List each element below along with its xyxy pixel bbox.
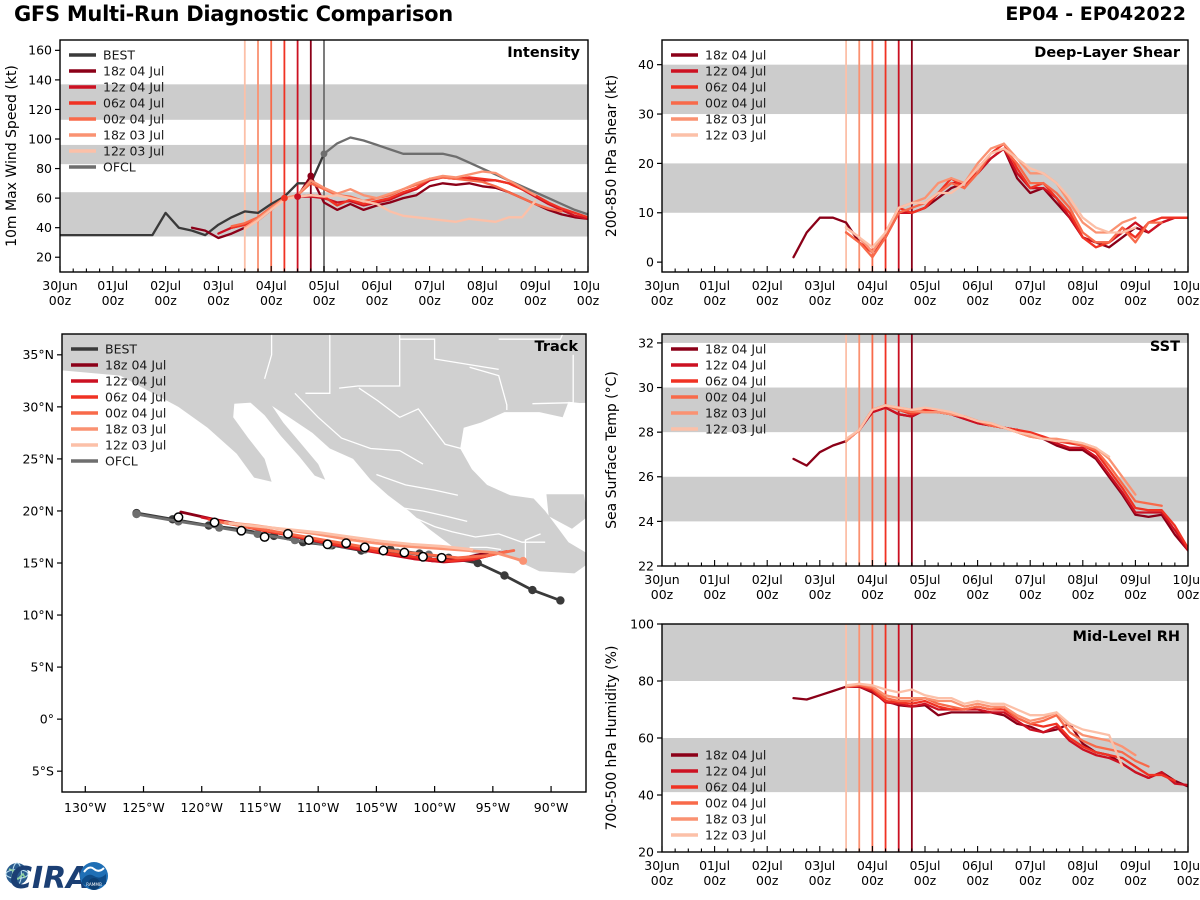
legend-label: 18z 03 Jul bbox=[705, 112, 766, 127]
y-tick-label: 0 bbox=[646, 255, 654, 270]
x-tick-label: 10Jul bbox=[1173, 278, 1200, 293]
x-tick-sublabel: 00z bbox=[651, 587, 674, 602]
panel-title: Intensity bbox=[507, 45, 580, 61]
legend-label: 00z 04 Jul bbox=[705, 390, 766, 405]
x-tick-label: 02Jul bbox=[150, 278, 181, 293]
x-tick-label: 115°W bbox=[239, 800, 281, 815]
y-tick-label: 20 bbox=[638, 156, 654, 171]
y-tick-label: 35°N bbox=[22, 347, 54, 362]
x-tick-label: 05Jul bbox=[910, 278, 941, 293]
x-tick-sublabel: 00z bbox=[154, 293, 177, 308]
open-track-marker bbox=[437, 554, 445, 562]
legend-label: 12z 04 Jul bbox=[705, 764, 766, 779]
open-track-marker bbox=[210, 518, 218, 526]
legend-label: 12z 04 Jul bbox=[103, 80, 164, 95]
x-tick-label: 09Jul bbox=[520, 278, 551, 293]
open-track-marker bbox=[323, 540, 331, 548]
storm-id-title: EP04 - EP042022 bbox=[1005, 3, 1186, 25]
legend-label: 18z 04 Jul bbox=[705, 48, 766, 63]
panel-title: Deep-Layer Shear bbox=[1034, 45, 1181, 61]
x-tick-label: 03Jul bbox=[804, 858, 835, 873]
track-marker bbox=[500, 571, 508, 579]
legend-label: 06z 04 Jul bbox=[103, 96, 164, 111]
page-header: GFS Multi-Run Diagnostic Comparison EP04… bbox=[0, 0, 1200, 26]
x-tick-label: 07Jul bbox=[1015, 858, 1046, 873]
y-tick-label: 20 bbox=[36, 250, 52, 265]
x-tick-label: 10Jul bbox=[1173, 858, 1200, 873]
legend-label: 06z 04 Jul bbox=[705, 780, 766, 795]
x-tick-sublabel: 00z bbox=[366, 293, 389, 308]
rh-panel: 2040608010030Jun00z01Jul00z02Jul00z03Jul… bbox=[600, 614, 1200, 900]
x-tick-sublabel: 00z bbox=[809, 587, 832, 602]
open-track-marker bbox=[305, 536, 313, 544]
legend-label: 06z 04 Jul bbox=[105, 390, 166, 405]
y-tick-label: 28 bbox=[638, 425, 654, 440]
rammb-badge-icon: RAMMB bbox=[80, 862, 108, 890]
x-tick-label: 05Jul bbox=[910, 858, 941, 873]
legend-label: 12z 04 Jul bbox=[705, 358, 766, 373]
legend-label: 00z 04 Jul bbox=[705, 96, 766, 111]
legend-label: 12z 03 Jul bbox=[103, 144, 164, 159]
x-tick-sublabel: 00z bbox=[524, 293, 547, 308]
x-tick-sublabel: 00z bbox=[703, 293, 726, 308]
x-tick-label: 05Jul bbox=[309, 278, 340, 293]
x-tick-sublabel: 00z bbox=[914, 873, 937, 888]
open-track-marker bbox=[260, 533, 268, 541]
x-tick-label: 08Jul bbox=[1067, 278, 1098, 293]
legend-label: 18z 03 Jul bbox=[705, 406, 766, 421]
x-tick-label: 100°W bbox=[413, 800, 455, 815]
x-tick-sublabel: 00z bbox=[809, 873, 832, 888]
x-tick-sublabel: 00z bbox=[651, 293, 674, 308]
x-tick-label: 04Jul bbox=[857, 572, 888, 587]
panel-title: SST bbox=[1150, 339, 1180, 355]
shear-panel: 01020304030Jun00z01Jul00z02Jul00z03Jul00… bbox=[600, 26, 1200, 320]
legend-label: 06z 04 Jul bbox=[705, 374, 766, 389]
open-track-marker bbox=[400, 548, 408, 556]
legend-label: OFCL bbox=[105, 454, 138, 469]
track-marker bbox=[519, 557, 527, 565]
track-marker bbox=[132, 510, 140, 518]
x-tick-sublabel: 00z bbox=[703, 873, 726, 888]
x-tick-label: 10Jul bbox=[573, 278, 601, 293]
x-tick-label: 06Jul bbox=[962, 858, 993, 873]
x-tick-label: 90°W bbox=[534, 800, 569, 815]
y-tick-label: 60 bbox=[638, 730, 654, 745]
legend-label: 12z 04 Jul bbox=[705, 64, 766, 79]
legend-label: 18z 04 Jul bbox=[105, 358, 166, 373]
x-tick-sublabel: 00z bbox=[1177, 293, 1200, 308]
x-tick-sublabel: 00z bbox=[418, 293, 441, 308]
legend-label: 18z 03 Jul bbox=[105, 422, 166, 437]
x-tick-sublabel: 00z bbox=[966, 293, 989, 308]
x-tick-sublabel: 00z bbox=[313, 293, 336, 308]
x-tick-sublabel: 00z bbox=[1072, 587, 1095, 602]
legend-label: 12z 03 Jul bbox=[105, 438, 166, 453]
x-tick-label: 04Jul bbox=[857, 278, 888, 293]
y-tick-label: 30 bbox=[638, 106, 654, 121]
y-tick-label: 25°N bbox=[22, 451, 54, 466]
open-track-marker bbox=[342, 539, 350, 547]
x-tick-sublabel: 00z bbox=[966, 587, 989, 602]
x-tick-label: 07Jul bbox=[1015, 278, 1046, 293]
y-tick-label: 20°N bbox=[22, 503, 54, 518]
x-tick-label: 07Jul bbox=[1015, 572, 1046, 587]
y-tick-label: 10°N bbox=[22, 607, 54, 622]
x-tick-label: 01Jul bbox=[699, 572, 730, 587]
legend-label: 18z 04 Jul bbox=[103, 64, 164, 79]
intensity-panel: 2040608010012014016030Jun00z01Jul00z02Ju… bbox=[0, 26, 600, 320]
x-tick-label: 30Jun bbox=[644, 278, 679, 293]
x-tick-sublabel: 00z bbox=[207, 293, 230, 308]
x-tick-label: 105°W bbox=[355, 800, 397, 815]
x-tick-sublabel: 00z bbox=[914, 587, 937, 602]
x-tick-sublabel: 00z bbox=[861, 873, 884, 888]
x-tick-label: 06Jul bbox=[361, 278, 392, 293]
x-tick-sublabel: 00z bbox=[49, 293, 72, 308]
x-tick-sublabel: 00z bbox=[1019, 873, 1042, 888]
admin-border bbox=[202, 320, 400, 334]
init-marker bbox=[294, 193, 301, 200]
legend-label: 18z 04 Jul bbox=[705, 342, 766, 357]
legend-label: 00z 04 Jul bbox=[105, 406, 166, 421]
init-marker bbox=[281, 195, 288, 202]
legend-label: 12z 03 Jul bbox=[705, 828, 766, 843]
x-tick-label: 06Jul bbox=[962, 572, 993, 587]
x-tick-sublabel: 00z bbox=[1124, 587, 1147, 602]
shaded-band bbox=[662, 163, 1188, 212]
x-tick-label: 30Jun bbox=[644, 858, 679, 873]
cira-wordmark: CIRA bbox=[10, 861, 90, 896]
x-tick-sublabel: 00z bbox=[577, 293, 600, 308]
x-tick-label: 125°W bbox=[122, 800, 164, 815]
y-tick-label: 40 bbox=[36, 220, 52, 235]
panel-title: Mid-Level RH bbox=[1073, 629, 1180, 645]
x-tick-label: 03Jul bbox=[804, 572, 835, 587]
open-track-marker bbox=[419, 553, 427, 561]
sst-panel: 22242628303230Jun00z01Jul00z02Jul00z03Ju… bbox=[600, 320, 1200, 614]
x-tick-sublabel: 00z bbox=[1124, 293, 1147, 308]
x-tick-label: 05Jul bbox=[910, 572, 941, 587]
x-tick-sublabel: 00z bbox=[756, 587, 779, 602]
y-tick-label: 24 bbox=[638, 514, 654, 529]
page-title: GFS Multi-Run Diagnostic Comparison bbox=[14, 2, 453, 26]
x-tick-sublabel: 00z bbox=[471, 293, 494, 308]
x-tick-label: 95°W bbox=[476, 800, 511, 815]
x-tick-sublabel: 00z bbox=[756, 293, 779, 308]
x-tick-sublabel: 00z bbox=[1019, 587, 1042, 602]
x-tick-sublabel: 00z bbox=[966, 873, 989, 888]
open-track-marker bbox=[379, 546, 387, 554]
y-tick-label: 100 bbox=[630, 616, 654, 631]
x-tick-label: 120°W bbox=[180, 800, 222, 815]
y-tick-label: 80 bbox=[36, 161, 52, 176]
rammb-badge-text: RAMMB bbox=[86, 882, 102, 887]
track-marker bbox=[556, 596, 564, 604]
legend-label: 12z 03 Jul bbox=[705, 128, 766, 143]
legend-label: 18z 03 Jul bbox=[103, 128, 164, 143]
x-tick-label: 01Jul bbox=[699, 278, 730, 293]
x-tick-label: 07Jul bbox=[414, 278, 445, 293]
y-axis-label: 10m Max Wind Speed (kt) bbox=[4, 65, 20, 247]
x-tick-label: 04Jul bbox=[857, 858, 888, 873]
x-tick-label: 03Jul bbox=[804, 278, 835, 293]
open-track-marker bbox=[174, 513, 182, 521]
legend-label: 12z 03 Jul bbox=[705, 422, 766, 437]
y-tick-label: 40 bbox=[638, 57, 654, 72]
panel-title: Track bbox=[535, 339, 579, 355]
x-tick-label: 08Jul bbox=[467, 278, 498, 293]
legend-label: 00z 04 Jul bbox=[705, 796, 766, 811]
x-tick-sublabel: 00z bbox=[756, 873, 779, 888]
x-tick-label: 10Jul bbox=[1173, 572, 1200, 587]
y-tick-label: 26 bbox=[638, 469, 654, 484]
y-axis-label: 700-500 hPa Humidity (%) bbox=[604, 646, 620, 831]
y-tick-label: 160 bbox=[28, 43, 52, 58]
legend-label: BEST bbox=[103, 48, 135, 63]
track-marker bbox=[528, 586, 536, 594]
x-tick-sublabel: 00z bbox=[861, 293, 884, 308]
x-tick-label: 02Jul bbox=[752, 572, 783, 587]
y-tick-label: 60 bbox=[36, 191, 52, 206]
y-axis-label: Sea Surface Temp (°C) bbox=[604, 371, 620, 529]
x-tick-sublabel: 00z bbox=[1177, 587, 1200, 602]
init-marker bbox=[307, 173, 314, 180]
x-tick-label: 01Jul bbox=[699, 858, 730, 873]
y-tick-label: 80 bbox=[638, 673, 654, 688]
y-tick-label: 0° bbox=[40, 712, 54, 727]
x-tick-label: 130°W bbox=[64, 800, 106, 815]
x-tick-label: 04Jul bbox=[256, 278, 287, 293]
x-tick-label: 09Jul bbox=[1120, 278, 1151, 293]
cira-logo: CIRA RAMMB bbox=[4, 852, 114, 898]
y-tick-label: 40 bbox=[638, 787, 654, 802]
x-tick-label: 09Jul bbox=[1120, 572, 1151, 587]
y-tick-label: 120 bbox=[28, 102, 52, 117]
x-tick-label: 02Jul bbox=[752, 278, 783, 293]
legend-label: OFCL bbox=[103, 160, 136, 175]
y-tick-label: 100 bbox=[28, 131, 52, 146]
y-tick-label: 5°S bbox=[32, 764, 54, 779]
legend-label: 00z 04 Jul bbox=[103, 112, 164, 127]
x-tick-label: 02Jul bbox=[752, 858, 783, 873]
legend-label: 18z 03 Jul bbox=[705, 812, 766, 827]
init-marker bbox=[321, 150, 328, 157]
x-tick-sublabel: 00z bbox=[1124, 873, 1147, 888]
shaded-band bbox=[662, 477, 1188, 522]
x-tick-sublabel: 00z bbox=[1072, 873, 1095, 888]
x-tick-sublabel: 00z bbox=[861, 587, 884, 602]
x-tick-label: 01Jul bbox=[97, 278, 128, 293]
x-tick-label: 110°W bbox=[297, 800, 339, 815]
legend-label: 06z 04 Jul bbox=[705, 80, 766, 95]
x-tick-label: 08Jul bbox=[1067, 572, 1098, 587]
x-tick-label: 30Jun bbox=[644, 572, 679, 587]
x-tick-label: 03Jul bbox=[203, 278, 234, 293]
x-tick-sublabel: 00z bbox=[914, 293, 937, 308]
x-tick-sublabel: 00z bbox=[102, 293, 125, 308]
y-tick-label: 30 bbox=[638, 380, 654, 395]
open-track-marker bbox=[284, 530, 292, 538]
open-track-marker bbox=[361, 543, 369, 551]
x-tick-sublabel: 00z bbox=[260, 293, 283, 308]
legend-label: 12z 04 Jul bbox=[105, 374, 166, 389]
x-tick-sublabel: 00z bbox=[1019, 293, 1042, 308]
x-tick-label: 06Jul bbox=[962, 278, 993, 293]
x-tick-sublabel: 00z bbox=[651, 873, 674, 888]
y-axis-label: 200-850 hPa Shear (kt) bbox=[604, 75, 620, 237]
x-tick-label: 30Jun bbox=[42, 278, 77, 293]
y-tick-label: 10 bbox=[638, 205, 654, 220]
open-track-marker bbox=[237, 527, 245, 535]
x-tick-sublabel: 00z bbox=[1177, 873, 1200, 888]
y-tick-label: 15°N bbox=[22, 555, 54, 570]
x-tick-sublabel: 00z bbox=[809, 293, 832, 308]
y-tick-label: 140 bbox=[28, 72, 52, 87]
x-tick-sublabel: 00z bbox=[703, 587, 726, 602]
y-tick-label: 32 bbox=[638, 335, 654, 350]
x-tick-label: 08Jul bbox=[1067, 858, 1098, 873]
y-tick-label: 5°N bbox=[30, 659, 54, 674]
x-tick-sublabel: 00z bbox=[1072, 293, 1095, 308]
legend-label: BEST bbox=[105, 342, 137, 357]
x-tick-label: 09Jul bbox=[1120, 858, 1151, 873]
track-panel: 5°S0°5°N10°N15°N20°N25°N30°N35°N130°W125… bbox=[0, 320, 600, 850]
y-tick-label: 30°N bbox=[22, 399, 54, 414]
legend-label: 18z 04 Jul bbox=[705, 748, 766, 763]
